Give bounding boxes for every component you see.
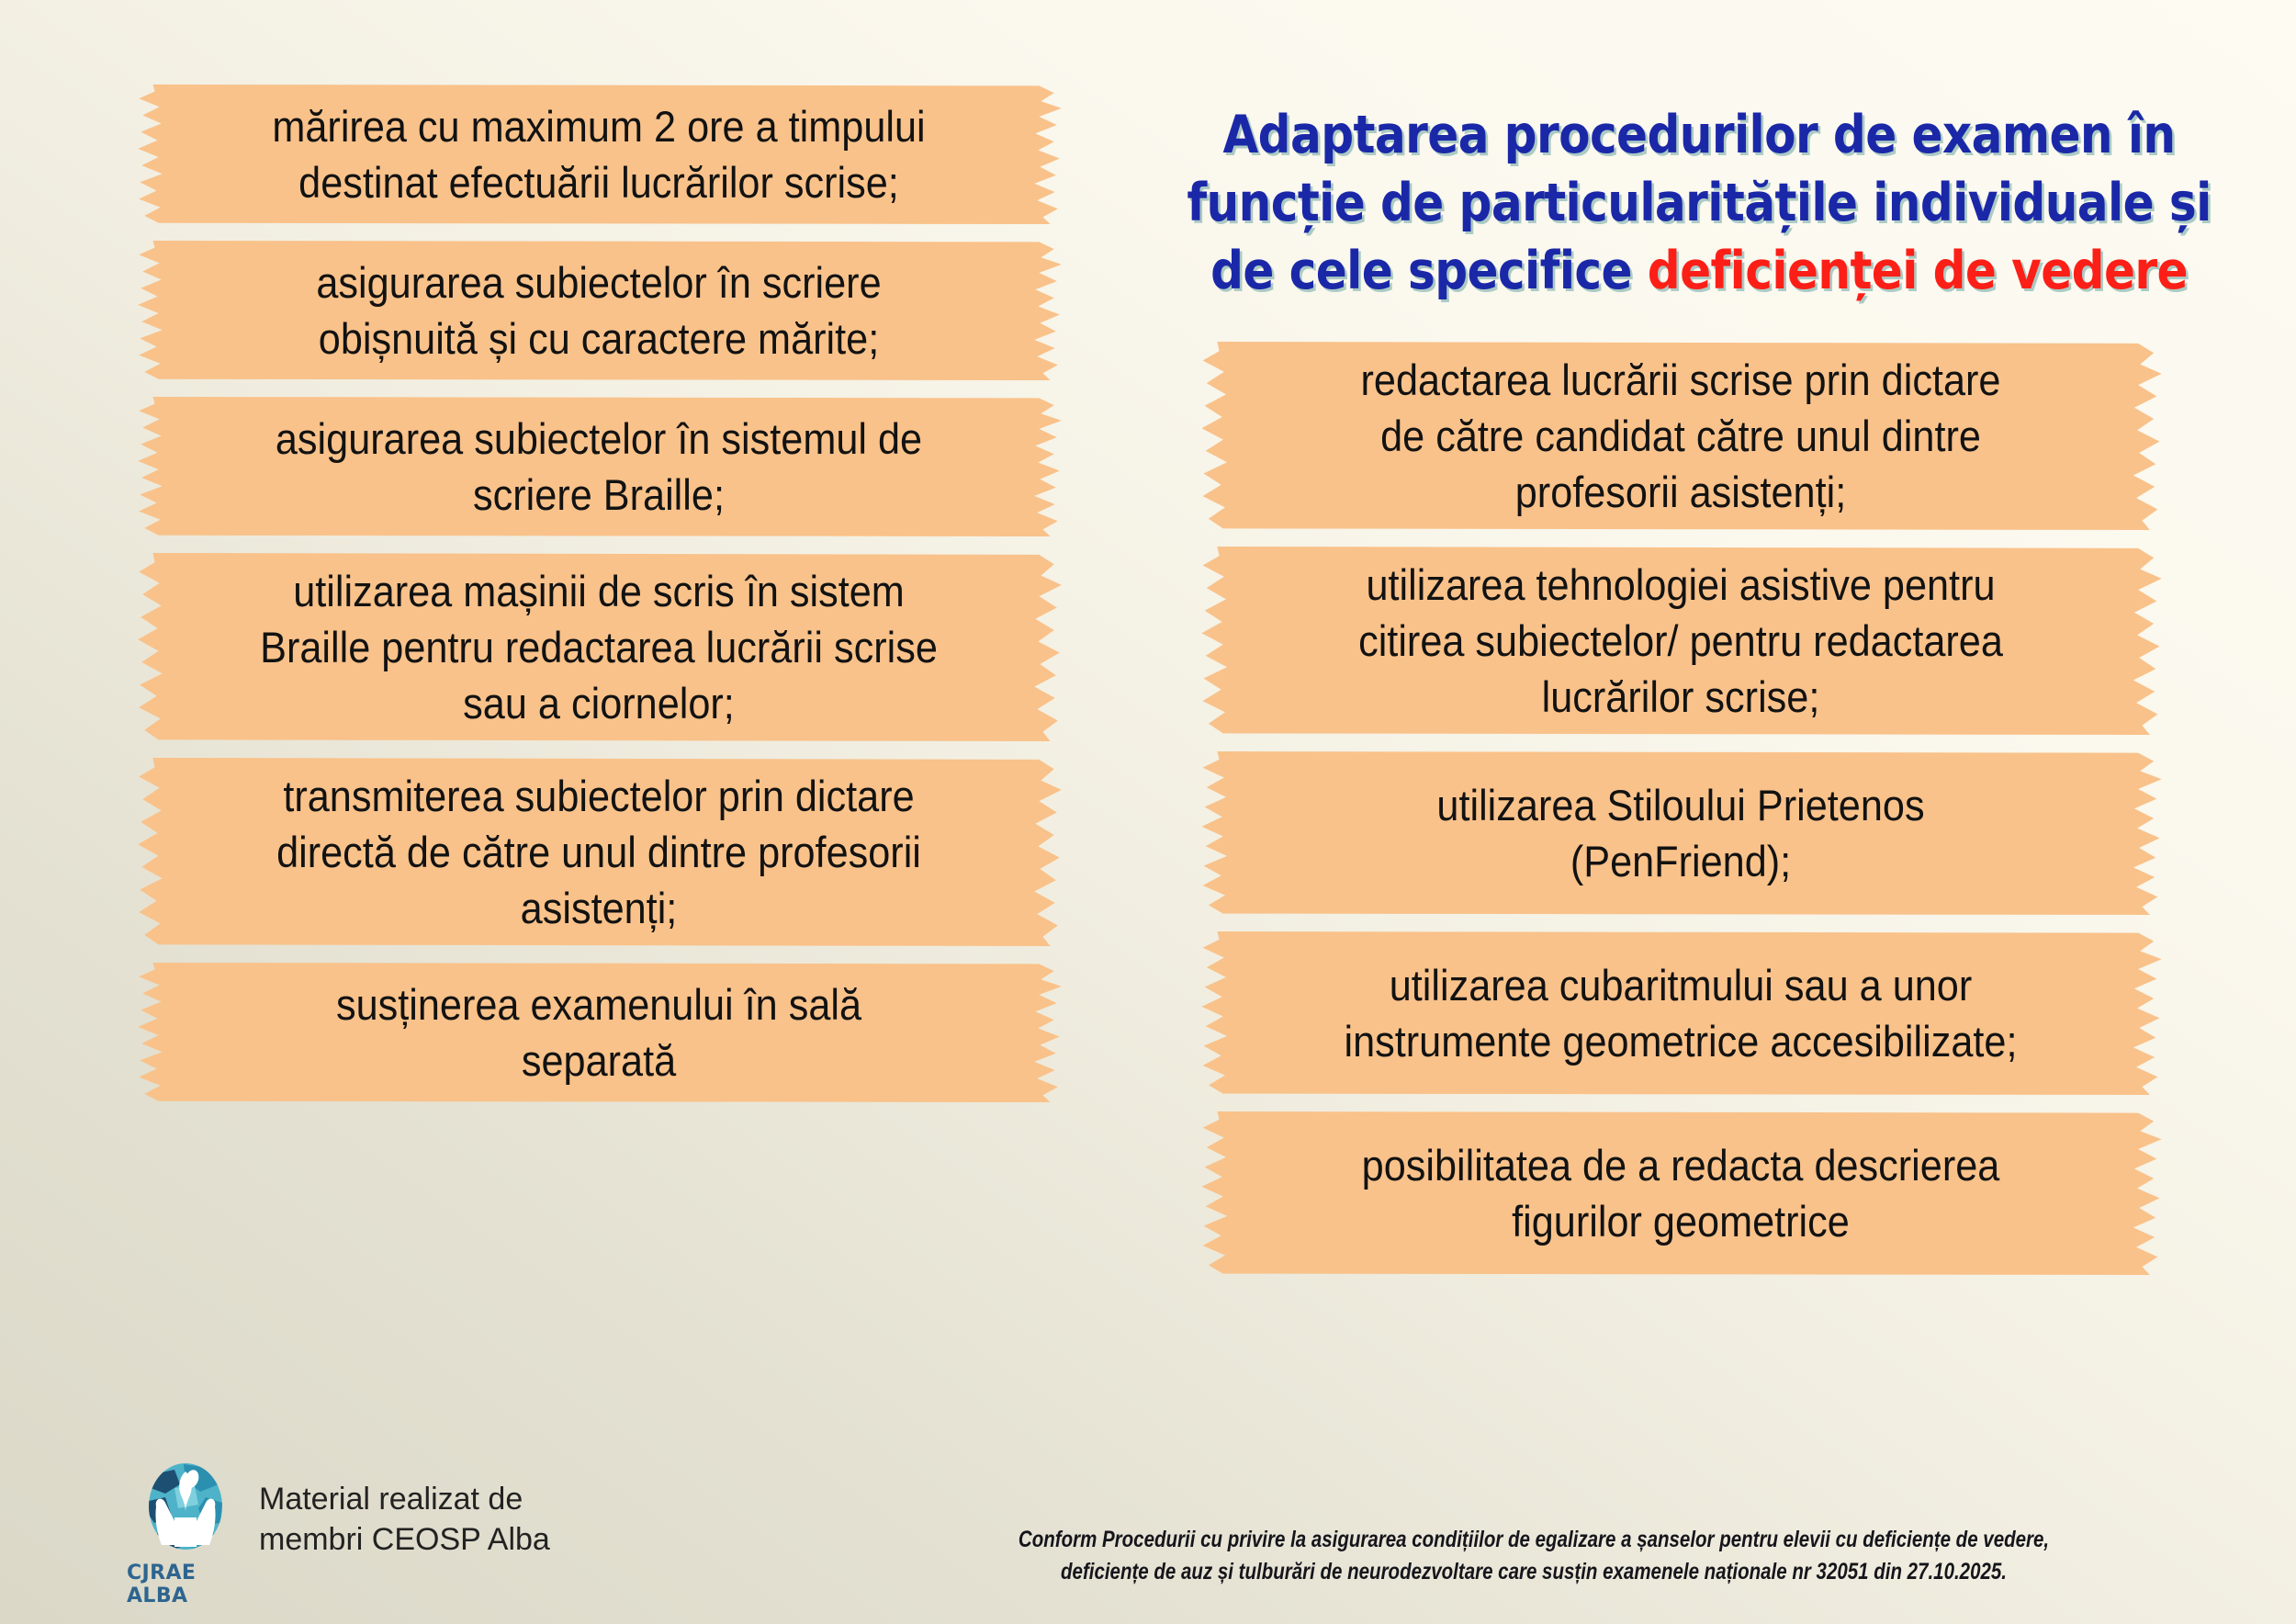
banner-left-2-text: asigurarea subiectelor în scriere obișnu… [231, 254, 967, 367]
banner-left-1: mărirea cu maximum 2 ore a timpului dest… [130, 85, 1067, 224]
legal-line-1: Conform Procedurii cu privire la asigura… [999, 1524, 2068, 1556]
banner-line: scriere Braille; [231, 467, 967, 523]
page-title: Adaptarea procedurilor de examen în func… [1102, 101, 2296, 305]
globe-hands-flower-icon [134, 1457, 237, 1560]
banner-line: destinat efectuării lucrărilor scrise; [231, 154, 967, 210]
banner-line: (PenFriend); [1295, 833, 2065, 889]
banner-line: asigurarea subiectelor în sistemul de [231, 411, 967, 467]
banner-right-5-text: posibilitatea de a redacta descrierea fi… [1295, 1137, 2065, 1249]
footer-credit-block: CJRAE ALBA Material realizat de membri C… [127, 1457, 550, 1607]
banner-line: sau a ciornelor; [231, 675, 967, 731]
banner-left-3: asigurarea subiectelor în sistemul de sc… [130, 397, 1067, 536]
banner-line: obișnuită și cu caractere mărite; [231, 310, 967, 367]
banner-line: utilizarea Stiloului Prietenos [1295, 777, 2065, 833]
banner-left-5-text: transmiterea subiectelor prin dictare di… [231, 768, 967, 936]
banner-left-1-text: mărirea cu maximum 2 ore a timpului dest… [231, 98, 967, 210]
banner-line: citirea subiectelor/ pentru redactarea [1295, 613, 2065, 669]
banner-line: asigurarea subiectelor în scriere [231, 254, 967, 310]
banner-left-6-text: susținerea examenului în sală separată [231, 976, 967, 1088]
banner-line: posibilitatea de a redacta descrierea [1295, 1137, 2065, 1193]
logo-caption: CJRAE ALBA [127, 1562, 244, 1607]
infographic-poster: Adaptarea procedurilor de examen în func… [0, 0, 2296, 1624]
banner-line: Braille pentru redactarea lucrării scris… [231, 619, 967, 675]
banner-line: profesorii asistenți; [1295, 464, 2065, 520]
banner-line: asistenți; [231, 880, 967, 936]
banner-line: transmiterea subiectelor prin dictare [231, 768, 967, 824]
title-line-1: Adaptarea procedurilor de examen în [1174, 101, 2224, 169]
banner-left-4-text: utilizarea mașinii de scris în sistem Br… [231, 563, 967, 731]
title-line-3-red: deficienței de vedere [1648, 241, 2188, 301]
banner-line: de către candidat către unul dintre [1295, 408, 2065, 464]
credit-line-1: Material realizat de [259, 1480, 550, 1520]
banner-line: separată [231, 1032, 967, 1088]
banner-left-6: susținerea examenului în sală separată [130, 963, 1067, 1102]
title-line-3: de cele specifice deficienței de vedere [1174, 237, 2224, 305]
banner-right-1-text: redactarea lucrării scrise prin dictare … [1295, 352, 2065, 520]
title-line-3-blue: de cele specifice [1210, 241, 1648, 301]
banner-right-2: utilizarea tehnologiei asistive pentru c… [1194, 547, 2167, 735]
banner-line: redactarea lucrării scrise prin dictare [1295, 352, 2065, 408]
banner-line: figurilor geometrice [1295, 1193, 2065, 1249]
banner-right-4: utilizarea cubaritmului sau a unor instr… [1194, 931, 2167, 1095]
banner-line: utilizarea tehnologiei asistive pentru [1295, 557, 2065, 613]
cjrae-logo: CJRAE ALBA [127, 1457, 244, 1607]
credit-text: Material realizat de membri CEOSP Alba [259, 1480, 550, 1584]
left-column: mărirea cu maximum 2 ore a timpului dest… [130, 85, 1067, 1119]
banner-line: utilizarea mașinii de scris în sistem [231, 563, 967, 619]
banner-line: mărirea cu maximum 2 ore a timpului [231, 98, 967, 154]
banner-line: instrumente geometrice accesibilizate; [1295, 1013, 2065, 1069]
banner-right-3: utilizarea Stiloului Prietenos (PenFrien… [1194, 751, 2167, 915]
banner-left-4: utilizarea mașinii de scris în sistem Br… [130, 553, 1067, 741]
legal-note: Conform Procedurii cu privire la asigura… [882, 1524, 2186, 1587]
banner-right-2-text: utilizarea tehnologiei asistive pentru c… [1295, 557, 2065, 725]
banner-left-3-text: asigurarea subiectelor în sistemul de sc… [231, 411, 967, 523]
banner-right-4-text: utilizarea cubaritmului sau a unor instr… [1295, 957, 2065, 1069]
credit-line-2: membri CEOSP Alba [259, 1520, 550, 1561]
banner-line: directă de către unul dintre profesorii [231, 824, 967, 880]
banner-right-3-text: utilizarea Stiloului Prietenos (PenFrien… [1295, 777, 2065, 889]
banner-right-1: redactarea lucrării scrise prin dictare … [1194, 342, 2167, 530]
banner-left-2: asigurarea subiectelor în scriere obișnu… [130, 241, 1067, 380]
title-line-2: funcție de particularitățile individuale… [1174, 169, 2224, 237]
banner-line: lucrărilor scrise; [1295, 669, 2065, 725]
banner-left-5: transmiterea subiectelor prin dictare di… [130, 758, 1067, 946]
legal-line-2: deficiențe de auz și tulburări de neurod… [999, 1556, 2068, 1588]
right-column: redactarea lucrării scrise prin dictare … [1194, 342, 2167, 1291]
banner-line: utilizarea cubaritmului sau a unor [1295, 957, 2065, 1013]
banner-right-5: posibilitatea de a redacta descrierea fi… [1194, 1111, 2167, 1275]
banner-line: susținerea examenului în sală [231, 976, 967, 1032]
